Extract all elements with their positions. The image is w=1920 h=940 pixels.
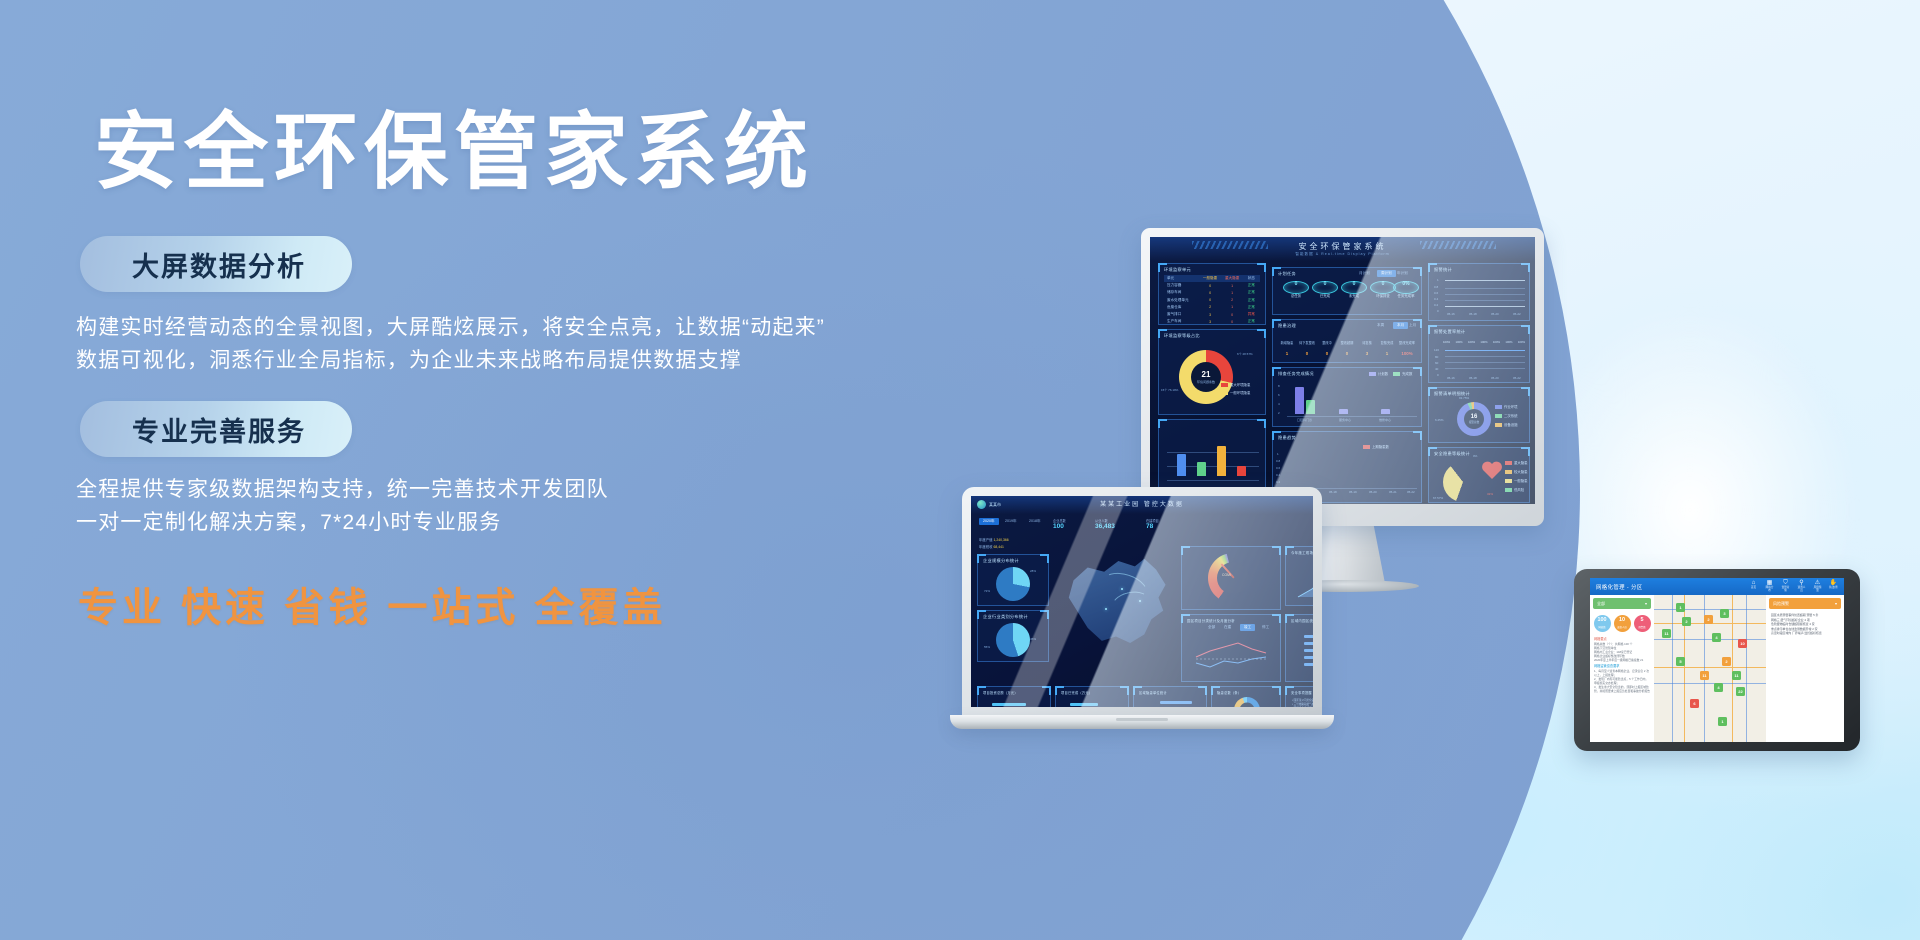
tab-this-month[interactable]: 本月: [1393, 322, 1408, 329]
panel-enterprise-scale-pie: 企业规模分布统计 28% 72%: [977, 554, 1049, 606]
legend-item: 低风险: [1505, 487, 1528, 492]
chevron-down-icon: ▾: [1835, 601, 1837, 606]
thumb-icon[interactable]: ✋执法/查: [1829, 580, 1838, 592]
panel-task-progress: 排查任务完成情况 计划数 完成数 8 6 4 2: [1272, 367, 1422, 427]
industry-pie: [996, 623, 1030, 657]
monitor-dashboard-subtitle: 智能数据 & Real-time Display Platform: [1295, 252, 1389, 257]
tablet-top-bar: 网格化管理 - 分区 ⌂首页 ▦网格分布 ⛉监管对象 ⚲巡查人员 ⚠风险预警 ✋…: [1590, 578, 1844, 595]
panel-alarm-stat-title: 报警统计: [1434, 267, 1452, 273]
tab-last-month[interactable]: 上月: [1409, 323, 1416, 328]
laptop: 某某市 某某工业园 管控大数据 2020年 2019年 2018年 企业总数 1…: [950, 487, 1334, 743]
tab-year-2018[interactable]: 2018年: [1029, 519, 1041, 524]
tab-year-plan[interactable]: 年计划: [1397, 271, 1408, 276]
map-pin: 22: [1736, 687, 1745, 696]
gauge-value: COMI: [1222, 573, 1231, 577]
map-pin: 4: [1714, 683, 1723, 692]
stat-grid-count: 100 网格数: [1594, 615, 1611, 632]
tablet-page-title: 网格化管理 - 分区: [1596, 583, 1643, 591]
legend-item: 计划数: [1369, 371, 1388, 376]
panel-investment-total-title: 项目投资总额（万元）: [983, 690, 1018, 695]
panel-alarm-stat: 报警统计 1 0.8 0.6 0.4 0.2 0 05-16 05-18: [1428, 263, 1530, 321]
map-pin: 2: [1704, 615, 1713, 624]
bar-plan-2: [1339, 409, 1348, 414]
tab-month-plan[interactable]: 月计划: [1359, 271, 1370, 276]
panel-worker-line-title: 今年施工现场投入总人数对比图: [1291, 550, 1313, 555]
kpi-company-count: 企业总数 100: [1053, 518, 1066, 530]
tablet-nav: ⌂首页 ▦网格分布 ⛉监管对象 ⚲巡查人员 ⚠风险预警 ✋执法/查: [1749, 580, 1838, 592]
task-metric-rate: 0% 任务完成率: [1389, 281, 1423, 298]
region-filter-label: 全部: [1597, 601, 1605, 607]
desktop-monitor: 安全环保管家系统 智能数据 & Real-time Display Platfo…: [1141, 228, 1544, 526]
kpi-employee-count: 从业人数 36,483: [1095, 518, 1115, 530]
panel-worker-line: 今年施工现场投入总人数对比图: [1285, 546, 1313, 606]
panel-enterprise-scale-title: 企业规模分布统计: [983, 558, 1019, 564]
panel-hazard-donut-title: 隐患总数（条）: [1217, 690, 1241, 695]
home-icon[interactable]: ⌂首页: [1749, 580, 1758, 592]
legend-item: 较大隐患: [1505, 469, 1528, 474]
kpi-project-count: 在建项目 78: [1146, 518, 1159, 530]
panel-hazard-units: 区域隐患单位统计: [1133, 686, 1207, 707]
trend-legend: 上期隐患数: [1363, 444, 1389, 449]
table-row: 压力容器 0 1 正常: [1164, 282, 1260, 289]
header-hatch-right: [1420, 241, 1496, 249]
task-progress-legend: 计划数 完成数: [1369, 371, 1412, 376]
map-pin: 11: [1700, 671, 1709, 680]
panel-alarm-rate-title: 报警处置率统计: [1434, 329, 1465, 335]
tablet-stats: 100 网格数 10 巡查人员 5 预警数: [1590, 612, 1654, 635]
panel-tasks-title: 计划任务: [1278, 271, 1296, 277]
unit-table: 单元 一般隐患 重大隐患 状态 压力容器 0 1 正常: [1164, 275, 1260, 325]
tab-year-2020[interactable]: 2020年: [979, 518, 999, 525]
tablet-right-panel: 风险预警 ▾ 园区水质预警事件处置超期 预警 5 条 网格三 废气环境超标企业 …: [1766, 595, 1844, 742]
donut-legend: 重大环境隐患 一般环境隐患: [1221, 382, 1250, 395]
laptop-org-label: 某某市: [989, 502, 1001, 508]
panel-investment-done: 项目已完成（万元）: [1055, 686, 1129, 707]
alarm-source-donut: 16 报警总数: [1457, 402, 1491, 436]
panel-project-multiline: 园区项目分类统计及月度分析 全部 在建 竣工 停工: [1181, 614, 1281, 682]
banner-stage: 安全环保管家系统 大屏数据分析 构建实时经营动态的全景视图，大屏酷炫展示，将安全…: [0, 0, 1920, 940]
tab-building[interactable]: 在建: [1224, 625, 1231, 630]
panel-rank: 区域内园区统计排名情况: [1285, 614, 1313, 682]
tab-completed[interactable]: 竣工: [1240, 624, 1255, 631]
bar-plan-3: [1381, 409, 1390, 414]
stat-alert-count: 5 预警数: [1634, 615, 1651, 632]
map-pin: 2: [1682, 617, 1691, 626]
tablet: 网格化管理 - 分区 ⌂首页 ▦网格分布 ⛉监管对象 ⚲巡查人员 ⚠风险预警 ✋…: [1574, 569, 1860, 751]
unit-table-header: 单元 一般隐患 重大隐患 状态: [1164, 275, 1260, 282]
comprehensive-index-gauge: [1208, 553, 1258, 603]
panel-task-progress-title: 排查任务完成情况: [1278, 371, 1314, 377]
donut-callout-general: 15个 76.19%: [1161, 388, 1183, 392]
laptop-screen: 某某市 某某工业园 管控大数据 2020年 2019年 2018年 企业总数 1…: [971, 496, 1313, 707]
legend-item: 一般环境隐患: [1221, 390, 1250, 395]
table-row: 生产车间 3 0 正常: [1164, 318, 1260, 325]
heart-icon: [1481, 460, 1503, 480]
map-pin: 11: [1662, 629, 1671, 638]
panel-industry-title: 企业行业类别分布统计: [983, 614, 1028, 620]
laptop-logo-icon: [977, 500, 986, 509]
rectify-columns: 新增隐患 待下发整改 整改中 整改超期 待复核 复核完成 整改完成率: [1277, 340, 1417, 345]
alarm-rate-labels: 100% 100% 100% 100% 100% 100% 100%: [1443, 340, 1525, 344]
grid-map[interactable]: 11 2 2 3 1 4 10 2 5 11 11 4 22 6: [1654, 595, 1766, 742]
alert-panel-title: 风险预警: [1773, 601, 1789, 607]
panel-trend-title: 隐患趋势: [1278, 435, 1296, 441]
map-icon[interactable]: ▦网格分布: [1765, 580, 1774, 592]
sub-value-tax: 年度税收 68,441: [979, 544, 1004, 549]
panel-investment-done-title: 项目已完成（万元）: [1061, 690, 1092, 695]
table-row: 废水处理单元 0 2 正常: [1164, 297, 1260, 304]
legend-item: 一般隐患: [1505, 478, 1528, 483]
environment-donut-chart: 21 环境问题条数: [1179, 350, 1233, 404]
person-run-icon[interactable]: ⚲巡查人员: [1797, 580, 1806, 592]
hazard-total-donut: [1234, 697, 1260, 707]
project-multiline-chart: [1192, 637, 1276, 673]
tablet-screen: 网格化管理 - 分区 ⌂首页 ▦网格分布 ⛉监管对象 ⚲巡查人员 ⚠风险预警 ✋…: [1590, 578, 1844, 742]
alarm-source-label: 报警总数: [1469, 420, 1479, 424]
panel-environment-donut: 环境监察等级占比 21 环境问题条数 6个 28.57% 15个 76.19% …: [1158, 329, 1266, 415]
donut-center-value: 21: [1202, 371, 1211, 379]
panel-rank-title: 区域内园区统计排名情况: [1291, 618, 1313, 623]
panel-hazard-units-title: 区域隐患单位统计: [1139, 690, 1167, 695]
alarm-rate-line: [1445, 350, 1525, 351]
region-filter-select[interactable]: 全部 ▾: [1593, 598, 1651, 609]
panel-safety-notice-title: 安全事项提醒: [1291, 690, 1312, 695]
legend-item: 上期隐患数: [1363, 445, 1389, 449]
map-pin: 2: [1722, 657, 1731, 666]
legend-item: 完成数: [1393, 371, 1412, 376]
panel-unit-table: 环境监察单元 单元 一般隐患 重大隐患 状态 压力容器 0: [1158, 263, 1266, 325]
donut-callout-major: 6个 28.57%: [1237, 352, 1265, 356]
monitor-bezel: 安全环保管家系统 智能数据 & Real-time Display Platfo…: [1141, 228, 1544, 526]
tab-year-2019[interactable]: 2019年: [1005, 519, 1017, 524]
panel-investment-total: 项目投资总额（万元）: [977, 686, 1051, 707]
level-pie-legend: 重大隐患 较大隐患 一般隐患 低风险: [1505, 460, 1528, 492]
map-pin: 3: [1720, 609, 1729, 618]
device-mockups: 安全环保管家系统 智能数据 & Real-time Display Platfo…: [0, 0, 1920, 940]
donut-center-label: 环境问题条数: [1197, 380, 1215, 384]
alert-list: 园区水质预警事件处置超期 预警 5 条 网格三 废气环境超标企业 4 项 危险废…: [1766, 612, 1844, 637]
map-pin: 1: [1676, 603, 1685, 612]
map-pin: 1: [1718, 717, 1727, 726]
panel-gauge: COMI: [1181, 546, 1281, 610]
panel-hazard-donut: 隐患总数（条）: [1211, 686, 1281, 707]
legend-item: 重大环境隐患: [1221, 382, 1250, 387]
table-row: 储存车间 0 1 正常: [1164, 289, 1260, 296]
bar-plan-1: [1295, 387, 1304, 414]
tablet-body: 网格化管理 - 分区 ⌂首页 ▦网格分布 ⛉监管对象 ⚲巡查人员 ⚠风险预警 ✋…: [1574, 569, 1860, 751]
laptop-trackpad-notch: [1116, 718, 1168, 721]
unit-table-col-0: 单元: [1164, 276, 1199, 281]
panel-environment-donut-title: 环境监察等级占比: [1164, 333, 1200, 339]
table-row: 危废仓库 2 1 正常: [1164, 304, 1260, 311]
tab-stopped[interactable]: 停工: [1262, 625, 1269, 630]
tab-this-week[interactable]: 本周: [1377, 323, 1384, 328]
panel-level-pie-title: 安全隐患等级统计: [1434, 451, 1470, 457]
monitor-dashboard-title: 安全环保管家系统: [1299, 241, 1387, 252]
shield-icon[interactable]: ⛉监管对象: [1781, 580, 1790, 592]
alert-icon[interactable]: ⚠风险预警: [1813, 580, 1822, 592]
tablet-left-panel: 全部 ▾ 100 网格数 10 巡查人员: [1590, 595, 1654, 742]
legend-item: 作业环境: [1495, 404, 1518, 409]
panel-tasks: 计划任务 月计划 周计划 年计划 0 总任务 0 已完成: [1272, 267, 1422, 315]
unit-table-col-1: 一般隐患: [1199, 276, 1222, 281]
sub-value-output: 年度产值 1,240,366: [979, 537, 1009, 542]
map-pin: 11: [1732, 671, 1741, 680]
alarm-source-legend: 作业环境 二次系统 设备设施: [1495, 404, 1518, 427]
legend-item: 二次系统: [1495, 413, 1518, 418]
map-pin: 4: [1712, 633, 1721, 642]
stat-inspector-count: 10 巡查人员: [1614, 615, 1631, 632]
map-pin: 6: [1690, 699, 1699, 708]
unit-table-col-3: 状态: [1243, 276, 1260, 281]
map-pin: 5: [1676, 657, 1685, 666]
header-hatch-left: [1192, 241, 1268, 249]
laptop-lid: 某某市 某某工业园 管控大数据 2020年 2019年 2018年 企业总数 1…: [962, 487, 1322, 719]
map-pin: 10: [1738, 639, 1747, 648]
list-item[interactable]: 高温时段区域内 厂界噪声 监控超标核查: [1771, 631, 1839, 636]
enterprise-scale-pie: [996, 567, 1030, 601]
rectify-values: 1 0 0 0 3 1 100%: [1277, 351, 1417, 356]
panel-project-multiline-title: 园区项目分类统计及月度分析: [1187, 618, 1235, 623]
panel-unit-table-title: 环境监察单元: [1164, 267, 1191, 273]
panel-rectify: 隐患治理 本周 本月 上月 新增隐患 待下发整改 整改中 整改超期 待复核 复核…: [1272, 319, 1422, 363]
legend-item: 设备设施: [1495, 422, 1518, 427]
inspection-requirement-note: 网格监管巡查要求 1、每月至少巡查本网格企业，记录信息 2 次以上，上报处理； …: [1594, 664, 1650, 693]
panel-alarm-rate: 报警处置率统计 100% 100% 100% 100% 100% 100%: [1428, 325, 1530, 383]
grid-points-note: 网格要点 网格总数（个）：共网格 100 个 网格下沉管辖单位 网格内工业企业：…: [1594, 637, 1650, 662]
monitor-screen: 安全环保管家系统 智能数据 & Real-time Display Platfo…: [1150, 237, 1535, 504]
worker-line-chart: [1294, 561, 1313, 599]
laptop-dashboard-title: 某某工业园 管控大数据: [1100, 499, 1184, 508]
legend-item: 重大隐患: [1505, 460, 1528, 465]
bar-done-1: [1306, 400, 1315, 414]
tab-week-plan[interactable]: 周计划: [1377, 270, 1396, 277]
tab-all[interactable]: 全部: [1208, 625, 1215, 630]
safety-notice-list: • 园区某公司危化品仓库巡检提醒 • 三号线路段废气处置超期提醒 • 环保设备设…: [1292, 699, 1313, 707]
alert-panel-header[interactable]: 风险预警 ▾: [1769, 598, 1841, 609]
level-pie-chart: [1443, 462, 1483, 502]
table-row: 废气排口 3 0 异常: [1164, 311, 1260, 318]
chevron-down-icon: ▾: [1645, 601, 1647, 606]
panel-level-pie: 安全隐患等级统计 67.57% 0% 32% 重大隐患 较大隐患 一般隐患 低风…: [1428, 447, 1530, 503]
panel-alarm-source: 报警清单明细统计 16 报警总数 93.75% 6.25% 作业环境 二次系统: [1428, 387, 1530, 443]
unit-table-col-2: 重大隐患: [1222, 276, 1243, 281]
panel-industry-pie: 企业行业类别分布统计 45% 55%: [977, 610, 1049, 662]
panel-rectify-title: 隐患治理: [1278, 323, 1296, 329]
panel-safety-notice: 安全事项提醒 • 园区某公司危化品仓库巡检提醒 • 三号线路段废气处置超期提醒 …: [1285, 686, 1313, 707]
